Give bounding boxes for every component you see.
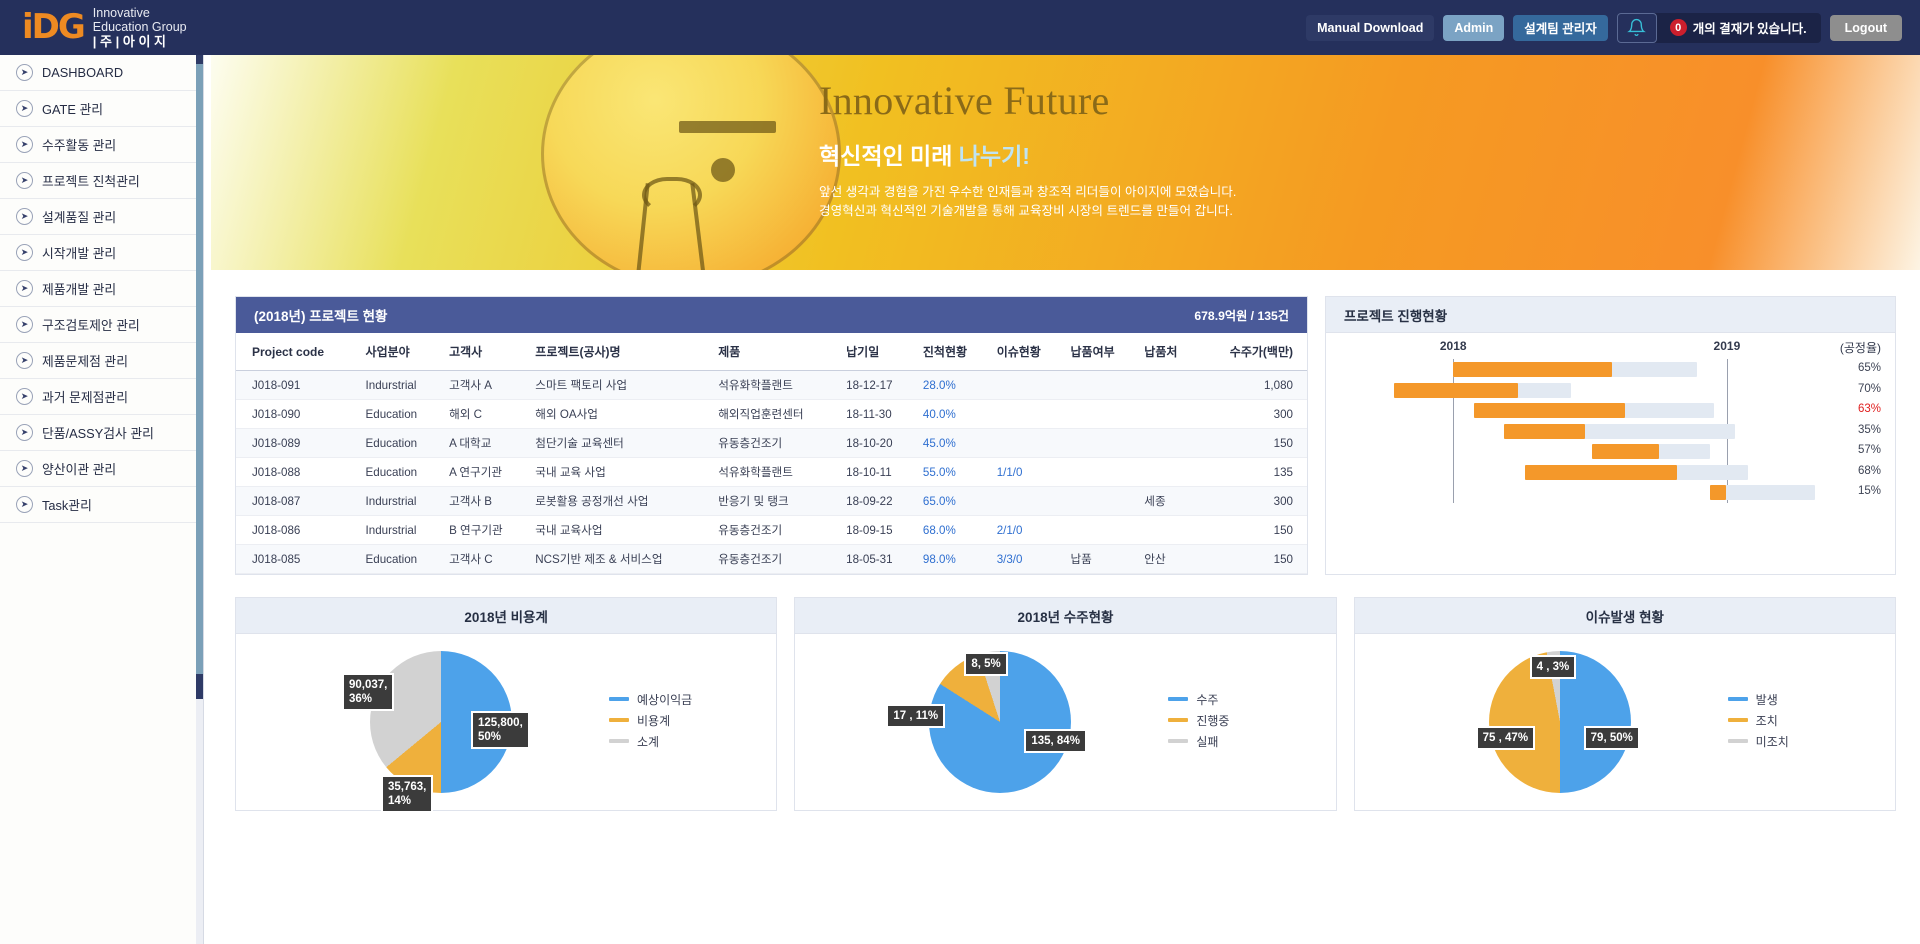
table-row[interactable]: J018-088EducationA 연구기관국내 교육 사업석유화학플랜트18… <box>236 458 1307 487</box>
dashboard-row-charts: 2018년 비용계125,800,50%35,763,14%90,037,36%… <box>211 575 1920 811</box>
sidebar-item-3[interactable]: ➤프로젝트 진척관리 <box>0 163 203 199</box>
filament-dot-icon <box>711 158 735 182</box>
cell-amount: 150 <box>1198 545 1307 574</box>
banner-title-kr: 혁신적인 미래 나누기! <box>819 137 1236 171</box>
gantt-row-2[interactable]: 63% <box>1326 400 1895 421</box>
legend-swatch-icon <box>1168 739 1188 743</box>
manual-download-button[interactable]: Manual Download <box>1306 15 1434 41</box>
gantt-track <box>1394 383 1571 398</box>
pie-data-label-line: 36% <box>349 692 387 706</box>
legend-item-0[interactable]: 예상이익금 <box>609 691 692 708</box>
cell-name: 국내 교육사업 <box>529 516 712 545</box>
notification-text: 개의 결재가 있습니다. <box>1693 18 1807 37</box>
cell-issue <box>991 400 1065 429</box>
cell-client: 고객사 B <box>443 487 529 516</box>
pie-data-label-line: 125,800, <box>478 716 523 730</box>
gantt-fill <box>1394 383 1518 398</box>
legend-swatch-icon <box>609 718 629 722</box>
project-table-col-3: 프로젝트(공사)명 <box>529 333 712 371</box>
cell-due: 18-10-20 <box>840 429 917 458</box>
pie-panel-body: 135, 84%17 , 11%8, 5%수주진행중실패 <box>795 634 1335 810</box>
sidebar-item-0[interactable]: ➤DASHBOARD <box>0 55 203 91</box>
project-progress-header: 프로젝트 진행현황 <box>1326 297 1895 333</box>
app-logo[interactable]: iDG Innovative Education Group | 주 | 아 이… <box>22 6 187 50</box>
table-row[interactable]: J018-090Education해외 C해외 OA사업해외직업훈련센터18-1… <box>236 400 1307 429</box>
sidebar-item-label: 단품/ASSY검사 관리 <box>42 423 154 442</box>
sidebar-item-list: ➤DASHBOARD➤GATE 관리➤수주활동 관리➤프로젝트 진척관리➤설계품… <box>0 55 203 523</box>
project-table-col-2: 고객사 <box>443 333 529 371</box>
cell-dest <box>1138 429 1197 458</box>
cell-due: 18-09-22 <box>840 487 917 516</box>
cell-client: B 연구기관 <box>443 516 529 545</box>
sidebar-item-label: 제품문제점 관리 <box>42 351 128 370</box>
banner-title-kr-highlight: 나누기! <box>959 143 1030 169</box>
logo-text-block: Innovative Education Group | 주 | 아 이 지 <box>93 6 187 50</box>
chevron-right-icon: ➤ <box>16 208 33 225</box>
cell-name: 로봇활용 공정개선 사업 <box>529 487 712 516</box>
cell-issue: 1/1/0 <box>991 458 1065 487</box>
cell-issue <box>991 487 1065 516</box>
legend-swatch-icon <box>609 697 629 701</box>
sidebar-item-label: DASHBOARD <box>42 65 123 80</box>
cell-product: 해외직업훈련센터 <box>712 400 840 429</box>
table-row[interactable]: J018-089EducationA 대학교첨단기술 교육센터유동층건조기18-… <box>236 429 1307 458</box>
gantt-row-6[interactable]: 15% <box>1326 482 1895 503</box>
main-content: Innovative Future 혁신적인 미래 나누기! 앞선 생각과 경험… <box>211 55 1920 944</box>
sidebar-item-label: 시작개발 관리 <box>42 243 116 262</box>
legend-swatch-icon <box>1728 718 1748 722</box>
legend-label: 발생 <box>1756 691 1778 708</box>
logo-mark-text: iDG <box>22 7 84 47</box>
pie-panel-title: 2018년 비용계 <box>464 606 547 626</box>
gantt-fill <box>1453 362 1612 377</box>
pie-panel-header: 2018년 비용계 <box>236 598 776 634</box>
project-table-col-0: Project code <box>236 333 360 371</box>
pie-panel-title: 이슈발생 현황 <box>1586 606 1664 626</box>
sidebar-item-6[interactable]: ➤제품개발 관리 <box>0 271 203 307</box>
gantt-track <box>1592 444 1710 459</box>
pie-data-label-line: 79, 50% <box>1591 731 1633 745</box>
pie-data-label-line: 135, 84% <box>1031 734 1080 748</box>
chevron-right-icon: ➤ <box>16 244 33 261</box>
cell-amount: 135 <box>1198 458 1307 487</box>
project-table-col-4: 제품 <box>712 333 840 371</box>
chevron-right-icon: ➤ <box>16 100 33 117</box>
cell-dest <box>1138 516 1197 545</box>
cell-amount: 300 <box>1198 487 1307 516</box>
notification-count-badge: 0 <box>1670 19 1687 36</box>
project-table-col-5: 납기일 <box>840 333 917 371</box>
gantt-year-2018: 2018 <box>1440 339 1467 353</box>
project-status-summary: 678.9억원 / 135건 <box>1194 306 1289 324</box>
sidebar-item-label: 과거 문제점관리 <box>42 387 128 406</box>
gantt-fill <box>1592 444 1659 459</box>
sidebar-item-1[interactable]: ➤GATE 관리 <box>0 91 203 127</box>
cell-client: 해외 C <box>443 400 529 429</box>
table-row[interactable]: J018-087Indurstrial고객사 B로봇활용 공정개선 사업반응기 … <box>236 487 1307 516</box>
chevron-right-icon: ➤ <box>16 496 33 513</box>
gantt-progress-label: 65% <box>1858 362 1881 374</box>
cell-name: 해외 OA사업 <box>529 400 712 429</box>
lightbulb-outline-icon <box>541 55 841 270</box>
gantt-progress-label: 57% <box>1858 444 1881 456</box>
cell-issue <box>991 371 1065 400</box>
sidebar-item-10[interactable]: ➤단품/ASSY검사 관리 <box>0 415 203 451</box>
cell-code: J018-087 <box>236 487 360 516</box>
cell-dest: 세종 <box>1138 487 1197 516</box>
gantt-fill <box>1474 403 1625 418</box>
cell-amount: 150 <box>1198 429 1307 458</box>
cell-progress: 55.0% <box>917 458 991 487</box>
cell-due: 18-12-17 <box>840 371 917 400</box>
cell-delivered <box>1064 429 1138 458</box>
pie-data-label-line: 17 , 11% <box>893 709 938 723</box>
cell-product: 유동층건조기 <box>712 429 840 458</box>
legend-item-1[interactable]: 진행중 <box>1168 712 1229 729</box>
pie-data-label-line: 14% <box>388 794 426 808</box>
scrollbar-cap-top <box>196 55 203 64</box>
pie-panel-1: 2018년 수주현황135, 84%17 , 11%8, 5%수주진행중실패 <box>794 597 1336 811</box>
gantt-track <box>1525 465 1748 480</box>
pie-panel-header: 이슈발생 현황 <box>1355 598 1895 634</box>
logo-mark: iDG <box>22 10 84 44</box>
sidebar-item-2[interactable]: ➤수주활동 관리 <box>0 127 203 163</box>
gantt-row-3[interactable]: 35% <box>1326 421 1895 442</box>
cell-delivered <box>1064 400 1138 429</box>
chevron-right-icon: ➤ <box>16 460 33 477</box>
project-table-body: J018-091Indurstrial고객사 A스마트 팩토리 사업석유화학플랜… <box>236 371 1307 574</box>
gantt-track <box>1710 485 1815 500</box>
cell-field: Indurstrial <box>360 371 444 400</box>
logo-line-3: | 주 | 아 이 지 <box>93 35 187 50</box>
sidebar-item-5[interactable]: ➤시작개발 관리 <box>0 235 203 271</box>
cell-field: Indurstrial <box>360 516 444 545</box>
pie-panel-title: 2018년 수주현황 <box>1018 606 1114 626</box>
pie-chart[interactable]: 125,800,50%35,763,14%90,037,36% <box>291 634 591 810</box>
table-row[interactable]: J018-086IndurstrialB 연구기관국내 교육사업유동층건조기18… <box>236 516 1307 545</box>
project-table-col-1: 사업분야 <box>360 333 444 371</box>
cell-amount: 300 <box>1198 400 1307 429</box>
pie-panel-0: 2018년 비용계125,800,50%35,763,14%90,037,36%… <box>235 597 777 811</box>
sidebar-item-label: 수주활동 관리 <box>42 135 116 154</box>
pie-legend: 예상이익금비용계소계 <box>609 691 692 754</box>
banner-subtitle-line-1: 앞선 생각과 경험을 가진 우수한 인재들과 창조적 리더들이 아이지에 모였습… <box>819 183 1236 202</box>
gantt-fill <box>1504 424 1585 439</box>
cell-due: 18-11-30 <box>840 400 917 429</box>
gantt-rate-header: (공정율) <box>1840 339 1881 356</box>
cell-code: J018-086 <box>236 516 360 545</box>
gantt-year-2019: 2019 <box>1714 339 1741 353</box>
sidebar-item-label: 구조검토제안 관리 <box>42 315 140 334</box>
cell-code: J018-089 <box>236 429 360 458</box>
project-progress-title: 프로젝트 진행현황 <box>1344 305 1447 325</box>
legend-item-0[interactable]: 수주 <box>1168 691 1229 708</box>
pie-panel-body: 125,800,50%35,763,14%90,037,36%예상이익금비용계소… <box>236 634 776 810</box>
chevron-right-icon: ➤ <box>16 424 33 441</box>
cell-delivered: 납품 <box>1064 545 1138 574</box>
cell-delivered <box>1064 371 1138 400</box>
sidebar-item-label: 프로젝트 진척관리 <box>42 171 140 190</box>
chevron-right-icon: ➤ <box>16 388 33 405</box>
gantt-fill <box>1710 485 1726 500</box>
cell-product: 석유화학플랜트 <box>712 371 840 400</box>
legend-item-2[interactable]: 미조치 <box>1728 733 1789 750</box>
cell-delivered <box>1064 487 1138 516</box>
gantt-progress-label: 63% <box>1858 403 1881 415</box>
cell-dest <box>1138 371 1197 400</box>
pie-panel-body: 79, 50%75 , 47%4 , 3%발생조치미조치 <box>1355 634 1895 810</box>
project-progress-panel: 프로젝트 진행현황 2018 2019 (공정율) 65%70%63%35%57… <box>1325 296 1896 575</box>
logout-button[interactable]: Logout <box>1830 15 1902 41</box>
project-table: Project code사업분야고객사프로젝트(공사)명제품납기일진척현황이슈현… <box>236 333 1307 574</box>
cell-product: 유동층건조기 <box>712 545 840 574</box>
sidebar-scrollbar[interactable] <box>196 55 203 944</box>
cell-name: NCS기반 제조 & 서비스업 <box>529 545 712 574</box>
gantt-axis: 2018 2019 (공정율) <box>1326 333 1895 359</box>
legend-item-1[interactable]: 비용계 <box>609 712 692 729</box>
project-table-col-9: 납품처 <box>1138 333 1197 371</box>
sidebar-item-label: GATE 관리 <box>42 99 103 118</box>
chevron-right-icon: ➤ <box>16 136 33 153</box>
pie-data-label-line: 35,763, <box>388 780 426 794</box>
cell-dest <box>1138 400 1197 429</box>
gantt-progress-label: 35% <box>1858 424 1881 436</box>
gantt-row-1[interactable]: 70% <box>1326 380 1895 401</box>
sidebar-item-12[interactable]: ➤Task관리 <box>0 487 203 523</box>
top-header-bar: iDG Innovative Education Group | 주 | 아 이… <box>0 0 1920 55</box>
pie-legend: 수주진행중실패 <box>1168 691 1229 754</box>
pie-data-label-line: 90,037, <box>349 678 387 692</box>
project-table-col-6: 진척현황 <box>917 333 991 371</box>
sidebar-nav: ➤DASHBOARD➤GATE 관리➤수주활동 관리➤프로젝트 진척관리➤설계품… <box>0 55 204 944</box>
cell-code: J018-088 <box>236 458 360 487</box>
legend-item-2[interactable]: 소계 <box>609 733 692 750</box>
pie-data-label-line: 75 , 47% <box>1483 731 1528 745</box>
bell-icon[interactable] <box>1617 13 1657 43</box>
legend-swatch-icon <box>1728 739 1748 743</box>
chevron-right-icon: ➤ <box>16 352 33 369</box>
legend-label: 미조치 <box>1756 733 1789 750</box>
gantt-chart: 2018 2019 (공정율) 65%70%63%35%57%68%15% <box>1326 333 1895 503</box>
cell-name: 첨단기술 교육센터 <box>529 429 712 458</box>
pie-data-label-line: 8, 5% <box>971 657 1000 671</box>
gantt-row-0[interactable]: 65% <box>1326 359 1895 380</box>
legend-label: 실패 <box>1196 733 1218 750</box>
scrollbar-cap-bottom <box>196 674 203 699</box>
cell-name: 스마트 팩토리 사업 <box>529 371 712 400</box>
cell-field: Education <box>360 429 444 458</box>
team-manager-button[interactable]: 설계팀 관리자 <box>1513 15 1607 41</box>
cell-field: Education <box>360 545 444 574</box>
pie-chart[interactable]: 79, 50%75 , 47%4 , 3% <box>1410 634 1710 810</box>
cell-amount: 150 <box>1198 516 1307 545</box>
legend-label: 소계 <box>637 733 659 750</box>
cell-amount: 1,080 <box>1198 371 1307 400</box>
legend-label: 진행중 <box>1196 712 1229 729</box>
chevron-right-icon: ➤ <box>16 316 33 333</box>
banner-text-block: Innovative Future 혁신적인 미래 나누기! 앞선 생각과 경험… <box>819 77 1236 221</box>
cell-code: J018-085 <box>236 545 360 574</box>
notification-group: 0 개의 결재가 있습니다. <box>1617 13 1821 43</box>
legend-label: 예상이익금 <box>637 691 692 708</box>
chevron-right-icon: ➤ <box>16 64 33 81</box>
cell-issue: 3/3/0 <box>991 545 1065 574</box>
gantt-fill <box>1525 465 1677 480</box>
pie-data-label-line: 50% <box>478 730 523 744</box>
table-row[interactable]: J018-085Education고객사 CNCS기반 제조 & 서비스업유동층… <box>236 545 1307 574</box>
cell-progress: 28.0% <box>917 371 991 400</box>
cell-field: Education <box>360 400 444 429</box>
pie-legend: 발생조치미조치 <box>1728 691 1789 754</box>
cell-due: 18-09-15 <box>840 516 917 545</box>
cell-client: 고객사 A <box>443 371 529 400</box>
cell-issue <box>991 429 1065 458</box>
banner-title-en: Innovative Future <box>819 77 1236 124</box>
cell-field: Education <box>360 458 444 487</box>
legend-swatch-icon <box>609 739 629 743</box>
cell-dest: 안산 <box>1138 545 1197 574</box>
cell-delivered <box>1064 458 1138 487</box>
project-table-header-row: Project code사업분야고객사프로젝트(공사)명제품납기일진척현황이슈현… <box>236 333 1307 371</box>
project-table-col-10: 수주가(백만) <box>1198 333 1307 371</box>
dashboard-row-top: (2018년) 프로젝트 현황 678.9억원 / 135건 Project c… <box>211 270 1920 575</box>
admin-button[interactable]: Admin <box>1443 15 1504 41</box>
gantt-progress-label: 68% <box>1858 465 1881 477</box>
cell-progress: 68.0% <box>917 516 991 545</box>
cell-product: 유동층건조기 <box>712 516 840 545</box>
legend-swatch-icon <box>1728 697 1748 701</box>
legend-item-2[interactable]: 실패 <box>1168 733 1229 750</box>
gantt-track <box>1474 403 1714 418</box>
project-status-header: (2018년) 프로젝트 현황 678.9억원 / 135건 <box>236 297 1307 333</box>
banner-subtitle-line-2: 경영혁신과 혁신적인 기술개발을 통해 교육장비 시장의 트렌드를 만들어 갑니… <box>819 202 1236 221</box>
legend-item-0[interactable]: 발생 <box>1728 691 1789 708</box>
cell-progress: 98.0% <box>917 545 991 574</box>
project-table-col-8: 납품여부 <box>1064 333 1138 371</box>
sidebar-item-label: 설계품질 관리 <box>42 207 116 226</box>
gantt-progress-label: 70% <box>1858 383 1881 395</box>
gantt-row-5[interactable]: 68% <box>1326 462 1895 483</box>
project-status-panel: (2018년) 프로젝트 현황 678.9억원 / 135건 Project c… <box>235 296 1308 575</box>
sidebar-item-label: 양산이관 관리 <box>42 459 116 478</box>
cell-dest <box>1138 458 1197 487</box>
sidebar-item-label: Task관리 <box>42 495 92 514</box>
pie-panel-header: 2018년 수주현황 <box>795 598 1335 634</box>
sidebar-item-7[interactable]: ➤구조검토제안 관리 <box>0 307 203 343</box>
scrollbar-thumb[interactable] <box>196 64 203 674</box>
pie-panel-2: 이슈발생 현황79, 50%75 , 47%4 , 3%발생조치미조치 <box>1354 597 1896 811</box>
sidebar-item-9[interactable]: ➤과거 문제점관리 <box>0 379 203 415</box>
legend-label: 조치 <box>1756 712 1778 729</box>
legend-item-1[interactable]: 조치 <box>1728 712 1789 729</box>
cell-delivered <box>1064 516 1138 545</box>
cell-due: 18-10-11 <box>840 458 917 487</box>
sidebar-item-label: 제품개발 관리 <box>42 279 116 298</box>
banner-title-kr-main: 혁신적인 미래 <box>819 143 959 169</box>
sidebar-item-11[interactable]: ➤양산이관 관리 <box>0 451 203 487</box>
chevron-right-icon: ➤ <box>16 280 33 297</box>
cell-progress: 65.0% <box>917 487 991 516</box>
cell-progress: 45.0% <box>917 429 991 458</box>
cell-due: 18-05-31 <box>840 545 917 574</box>
sidebar-item-4[interactable]: ➤설계품질 관리 <box>0 199 203 235</box>
project-status-title: (2018년) 프로젝트 현황 <box>254 305 387 325</box>
cell-field: Indurstrial <box>360 487 444 516</box>
pie-chart[interactable]: 135, 84%17 , 11%8, 5% <box>850 634 1150 810</box>
cell-client: A 연구기관 <box>443 458 529 487</box>
legend-swatch-icon <box>1168 718 1188 722</box>
cell-progress: 40.0% <box>917 400 991 429</box>
banner-subtitle: 앞선 생각과 경험을 가진 우수한 인재들과 창조적 리더들이 아이지에 모였습… <box>819 183 1236 221</box>
cell-code: J018-090 <box>236 400 360 429</box>
project-table-col-7: 이슈현황 <box>991 333 1065 371</box>
legend-label: 비용계 <box>637 712 670 729</box>
cell-product: 석유화학플랜트 <box>712 458 840 487</box>
filament-bar-icon <box>679 121 776 133</box>
cell-client: A 대학교 <box>443 429 529 458</box>
logo-line-1: Innovative <box>93 6 187 20</box>
chevron-right-icon: ➤ <box>16 172 33 189</box>
legend-swatch-icon <box>1168 697 1188 701</box>
pie-data-label-line: 4 , 3% <box>1537 660 1570 674</box>
gantt-row-4[interactable]: 57% <box>1326 441 1895 462</box>
cell-issue: 2/1/0 <box>991 516 1065 545</box>
sidebar-item-8[interactable]: ➤제품문제점 관리 <box>0 343 203 379</box>
cell-code: J018-091 <box>236 371 360 400</box>
filament-coil-icon <box>642 177 702 213</box>
cell-name: 국내 교육 사업 <box>529 458 712 487</box>
header-actions: Manual Download Admin 설계팀 관리자 0 개의 결재가 있… <box>1306 13 1902 43</box>
table-row[interactable]: J018-091Indurstrial고객사 A스마트 팩토리 사업석유화학플랜… <box>236 371 1307 400</box>
hero-banner: Innovative Future 혁신적인 미래 나누기! 앞선 생각과 경험… <box>211 55 1920 270</box>
gantt-track <box>1453 362 1697 377</box>
cell-client: 고객사 C <box>443 545 529 574</box>
gantt-progress-label: 15% <box>1858 485 1881 497</box>
legend-label: 수주 <box>1196 691 1218 708</box>
gantt-track <box>1504 424 1736 439</box>
gantt-rows: 65%70%63%35%57%68%15% <box>1326 359 1895 503</box>
logo-line-2: Education Group <box>93 20 187 34</box>
project-table-head: Project code사업분야고객사프로젝트(공사)명제품납기일진척현황이슈현… <box>236 333 1307 371</box>
cell-product: 반응기 및 탱크 <box>712 487 840 516</box>
